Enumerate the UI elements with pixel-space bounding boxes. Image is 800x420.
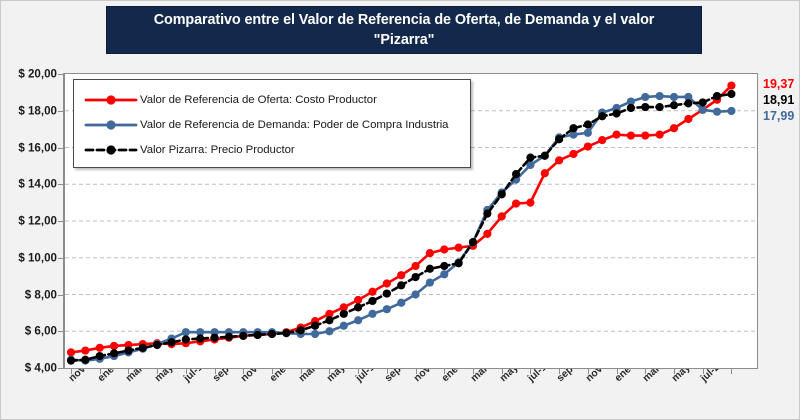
end-value-label: 17,99 [763, 109, 794, 123]
y-tick-label: $ 18,00 [5, 104, 57, 117]
legend-swatch-icon [82, 92, 140, 108]
y-tick-label: $ 20,00 [5, 68, 57, 81]
end-value-label: 18,91 [763, 93, 794, 107]
y-tick-label: $ 6,00 [5, 325, 57, 338]
chart-title-line2: "Pizarra" [374, 32, 435, 48]
end-value-label: 19,37 [763, 77, 794, 91]
legend-label: Valor de Referencia de Oferta: Costo Pro… [140, 94, 377, 106]
legend-swatch-icon [82, 117, 140, 133]
chart-title-line1: Comparativo entre el Valor de Referencia… [154, 12, 655, 28]
y-tick-label: $ 14,00 [5, 178, 57, 191]
chart-title: Comparativo entre el Valor de Referencia… [106, 6, 702, 54]
y-tick-label: $ 12,00 [5, 215, 57, 228]
y-tick-label: $ 4,00 [5, 362, 57, 375]
x-tick-mark [731, 369, 732, 374]
legend-label: Valor de Referencia de Demanda: Poder de… [140, 119, 448, 131]
y-tick-label: $ 10,00 [5, 251, 57, 264]
chart-legend: Valor de Referencia de Oferta: Costo Pro… [73, 79, 471, 168]
y-tick-label: $ 16,00 [5, 141, 57, 154]
legend-item-0[interactable]: Valor de Referencia de Oferta: Costo Pro… [82, 87, 462, 112]
legend-item-2[interactable]: Valor Pizarra: Precio Productor [82, 137, 462, 162]
chart-frame: Comparativo entre el Valor de Referencia… [0, 0, 800, 420]
legend-item-1[interactable]: Valor de Referencia de Demanda: Poder de… [82, 112, 462, 137]
legend-swatch-icon [82, 142, 140, 158]
legend-label: Valor Pizarra: Precio Productor [140, 144, 295, 156]
y-tick-label: $ 8,00 [5, 288, 57, 301]
